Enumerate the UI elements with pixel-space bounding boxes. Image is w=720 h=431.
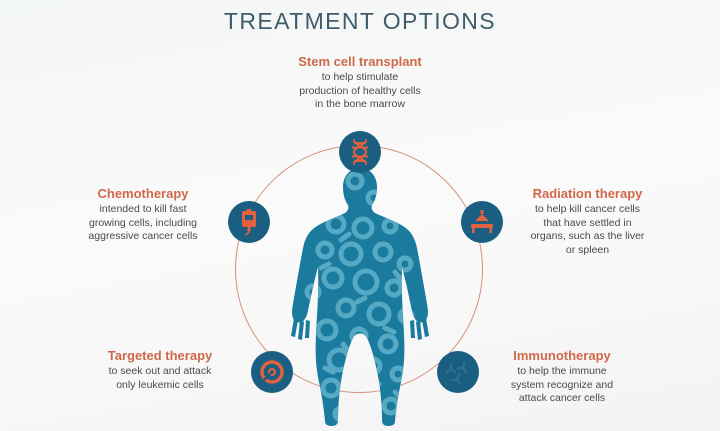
callout-body: to seek out and attack only leukemic cel… xyxy=(60,365,260,392)
callout-chemotherapy: Chemotherapy intended to kill fast growi… xyxy=(48,186,238,244)
target-bullseye-arrow-icon xyxy=(259,359,285,385)
callout-line: attack cancer cells xyxy=(462,392,662,406)
human-body-silhouette xyxy=(291,168,429,426)
callout-line: intended to kill fast xyxy=(48,203,238,217)
callout-line: growing cells, including xyxy=(48,217,238,231)
callout-stem-cell-transplant: Stem cell transplant to help stimulate p… xyxy=(255,54,465,112)
callout-line: only leukemic cells xyxy=(60,379,260,393)
callout-title: Radiation therapy xyxy=(490,186,685,202)
callout-line: production of healthy cells xyxy=(255,85,465,99)
callout-line: to seek out and attack xyxy=(60,365,260,379)
callout-title: Stem cell transplant xyxy=(255,54,465,70)
callout-body: to help stimulate production of healthy … xyxy=(255,71,465,112)
callout-line: or spleen xyxy=(490,244,685,258)
callout-title: Targeted therapy xyxy=(60,348,260,364)
callout-line: to help kill cancer cells xyxy=(490,203,685,217)
callout-body: to help the immune system recognize and … xyxy=(462,365,662,406)
page-title: TREATMENT OPTIONS xyxy=(0,8,720,35)
option-icon-stem-cell-transplant[interactable] xyxy=(339,131,381,173)
dna-helix-icon xyxy=(348,139,372,165)
callout-line: to help the immune xyxy=(462,365,662,379)
callout-title: Immunotherapy xyxy=(462,348,662,364)
callout-line: organs, such as the liver xyxy=(490,230,685,244)
treatment-options-infographic: TREATMENT OPTIONS xyxy=(0,0,720,431)
callout-line: in the bone marrow xyxy=(255,98,465,112)
callout-body: to help kill cancer cells that have sett… xyxy=(490,203,685,257)
callout-line: system recognize and xyxy=(462,379,662,393)
callout-title: Chemotherapy xyxy=(48,186,238,202)
callout-line: aggressive cancer cells xyxy=(48,230,238,244)
callout-radiation-therapy: Radiation therapy to help kill cancer ce… xyxy=(490,186,685,257)
callout-body: intended to kill fast growing cells, inc… xyxy=(48,203,238,244)
callout-line: to help stimulate xyxy=(255,71,465,85)
callout-line: that have settled in xyxy=(490,217,685,231)
callout-targeted-therapy: Targeted therapy to seek out and attack … xyxy=(60,348,260,392)
callout-immunotherapy: Immunotherapy to help the immune system … xyxy=(462,348,662,406)
iv-drip-bag-icon xyxy=(237,209,261,236)
